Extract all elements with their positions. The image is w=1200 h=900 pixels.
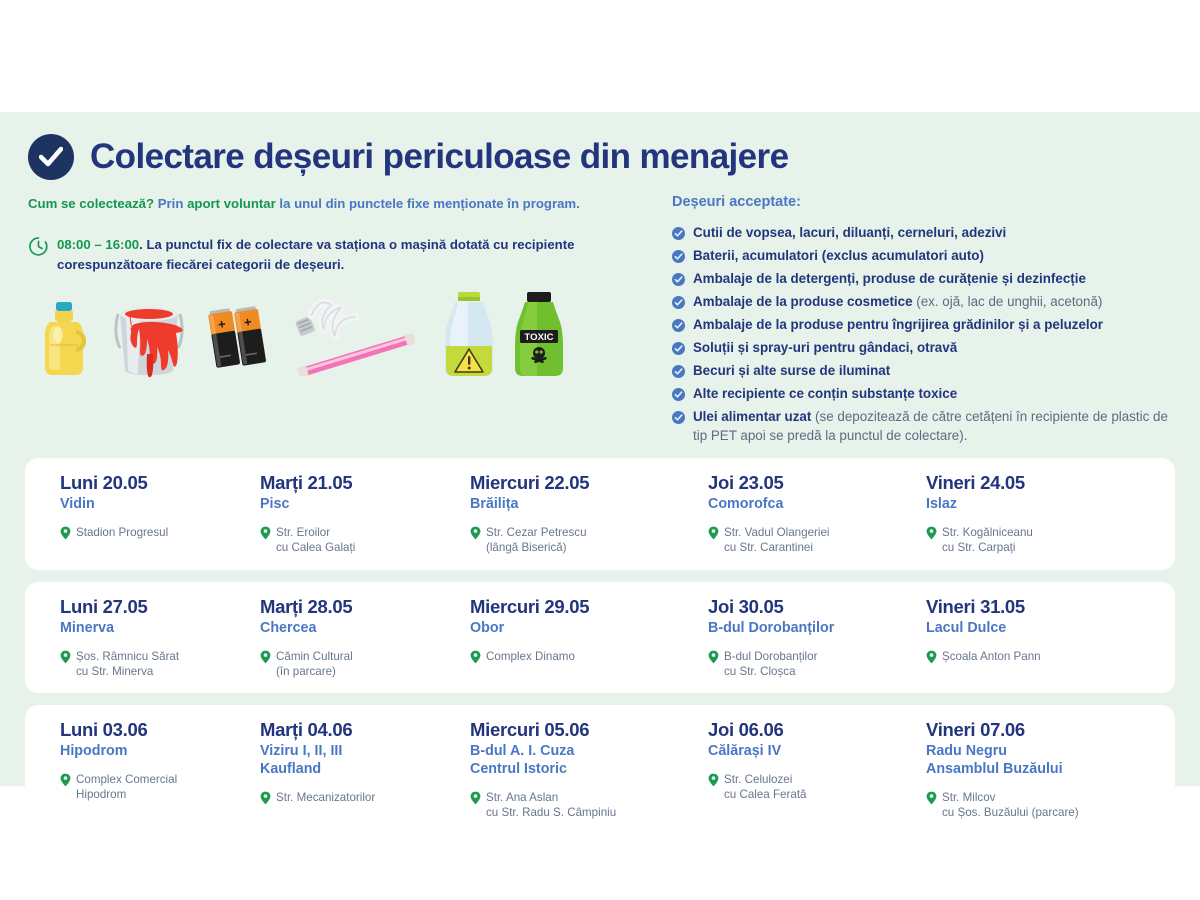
accepted-waste-item-text: Ambalaje de la produse pentru îngrijirea… bbox=[693, 315, 1103, 334]
schedule-zone: Minerva bbox=[60, 620, 245, 638]
schedule-entry[interactable]: Luni 20.05VidinStadion Progresul bbox=[25, 472, 255, 555]
check-circle-small-icon bbox=[672, 410, 685, 429]
accepted-waste-item-bold: Baterii, acumulatori (exclus acumulatori… bbox=[693, 248, 984, 263]
accepted-waste-item: Becuri și alte surse de iluminat bbox=[672, 361, 1172, 383]
lead-prin: Prin bbox=[158, 196, 184, 211]
map-pin-icon bbox=[60, 773, 71, 792]
schedule-address-row: Stadion Progresul bbox=[60, 525, 245, 545]
schedule-address: Str. Vadul Olangerieicu Str. Carantinei bbox=[724, 525, 829, 556]
opening-hours-value: 08:00 – 16:00 bbox=[57, 237, 139, 252]
accepted-waste-item-bold: Ambalaje de la produse pentru îngrijirea… bbox=[693, 317, 1103, 332]
accepted-waste-item-text: Soluții și spray-uri pentru gândaci, otr… bbox=[693, 338, 957, 357]
map-pin-icon bbox=[926, 650, 937, 669]
schedule-address-row: Complex ComercialHipodrom bbox=[60, 772, 245, 803]
schedule-day: Miercuri 29.05 bbox=[470, 596, 698, 618]
schedule-week-card: Luni 20.05VidinStadion ProgresulMarți 21… bbox=[25, 458, 1175, 569]
lead-tail: la unul din punctele fixe menționate în … bbox=[279, 196, 579, 211]
schedule-address: Complex ComercialHipodrom bbox=[76, 772, 177, 803]
accepted-waste-item: Alte recipiente ce conțin substanțe toxi… bbox=[672, 384, 1172, 406]
fluorescent-tube-icon bbox=[296, 334, 418, 381]
schedule-zone: Lacul Dulce bbox=[926, 620, 1151, 638]
schedule-zone: B-dul A. I. CuzaCentrul Istoric bbox=[470, 743, 698, 779]
schedule-entry[interactable]: Luni 03.06HipodromComplex ComercialHipod… bbox=[25, 719, 255, 820]
map-pin-icon bbox=[470, 650, 481, 669]
map-pin-icon bbox=[260, 791, 271, 810]
schedule-address-row: Str. Eroilorcu Calea Galați bbox=[260, 525, 460, 556]
accepted-waste-item: Ulei alimentar uzat (se depozitează de c… bbox=[672, 407, 1172, 445]
accepted-waste-item-note: (ex. ojă, lac de unghii, acetonă) bbox=[913, 294, 1103, 309]
warning-bottle-icon bbox=[440, 290, 498, 383]
schedule-week-card: Luni 03.06HipodromComplex ComercialHipod… bbox=[25, 705, 1175, 834]
paint-bucket-icon bbox=[106, 296, 192, 383]
schedule-zone: Islaz bbox=[926, 496, 1151, 514]
accepted-waste-item-bold: Cutii de vopsea, lacuri, diluanți, cerne… bbox=[693, 225, 1006, 240]
accepted-waste-item-bold: Soluții și spray-uri pentru gândaci, otr… bbox=[693, 340, 957, 355]
accepted-waste-item-bold: Ulei alimentar uzat bbox=[693, 409, 811, 424]
schedule-address-row: Școala Anton Pann bbox=[926, 649, 1151, 669]
schedule-address-row: Str. Ana Aslancu Str. Radu S. Câmpiniu bbox=[470, 790, 698, 821]
schedule-day: Marți 04.06 bbox=[260, 719, 460, 741]
schedule-address: Stadion Progresul bbox=[76, 525, 168, 540]
accepted-waste-item-bold: Alte recipiente ce conțin substanțe toxi… bbox=[693, 386, 957, 401]
lead-question: Cum se colectează? bbox=[28, 196, 154, 211]
schedule-day: Vineri 31.05 bbox=[926, 596, 1151, 618]
schedule-day: Luni 03.06 bbox=[60, 719, 245, 741]
map-pin-icon bbox=[260, 650, 271, 669]
accepted-waste-item-bold: Becuri și alte surse de iluminat bbox=[693, 363, 890, 378]
map-pin-icon bbox=[470, 526, 481, 545]
schedule-address-row: Șos. Râmnicu Săratcu Str. Minerva bbox=[60, 649, 245, 680]
map-pin-icon bbox=[708, 773, 719, 792]
schedule-address-row: Cămin Cultural(în parcare) bbox=[260, 649, 460, 680]
opening-hours-text: 08:00 – 16:00. La punctul fix de colecta… bbox=[57, 235, 628, 275]
clock-icon bbox=[28, 236, 49, 262]
accepted-waste-item-text: Alte recipiente ce conțin substanțe toxi… bbox=[693, 384, 957, 403]
schedule-zone: Pisc bbox=[260, 496, 460, 514]
batteries-icon: + + bbox=[208, 302, 270, 377]
schedule-address: Școala Anton Pann bbox=[942, 649, 1041, 664]
schedule-address: Șos. Râmnicu Săratcu Str. Minerva bbox=[76, 649, 179, 680]
accepted-waste-item-text: Cutii de vopsea, lacuri, diluanți, cerne… bbox=[693, 223, 1006, 242]
schedule-zone: Chercea bbox=[260, 620, 460, 638]
schedule-cards: Luni 20.05VidinStadion ProgresulMarți 21… bbox=[0, 446, 1200, 834]
opening-hours-line: 08:00 – 16:00. La punctul fix de colecta… bbox=[28, 235, 628, 275]
schedule-day: Marți 21.05 bbox=[260, 472, 460, 494]
accepted-waste-item-text: Becuri și alte surse de iluminat bbox=[693, 361, 890, 380]
poster-panel: Colectare deșeuri periculoase din menaje… bbox=[0, 112, 1200, 786]
schedule-address: Str. Celulozeicu Calea Ferată bbox=[724, 772, 807, 803]
check-circle-small-icon bbox=[672, 295, 685, 314]
schedule-address: Str. Ana Aslancu Str. Radu S. Câmpiniu bbox=[486, 790, 616, 821]
schedule-week-card: Luni 27.05MinervaȘos. Râmnicu Săratcu St… bbox=[25, 582, 1175, 693]
schedule-address: Str. Cezar Petrescu(lângă Biserică) bbox=[486, 525, 587, 556]
schedule-address-row: Complex Dinamo bbox=[470, 649, 698, 669]
lead-highlight: aport voluntar bbox=[187, 196, 276, 211]
schedule-day: Vineri 07.06 bbox=[926, 719, 1151, 741]
map-pin-icon bbox=[708, 650, 719, 669]
schedule-entry[interactable]: Vineri 07.06Radu NegruAnsamblul Buzăului… bbox=[926, 719, 1161, 820]
schedule-entry[interactable]: Miercuri 22.05BrăilițaStr. Cezar Petresc… bbox=[470, 472, 708, 555]
schedule-entry[interactable]: Marți 21.05PiscStr. Eroilorcu Calea Gala… bbox=[255, 472, 470, 555]
check-circle-small-icon bbox=[672, 364, 685, 383]
waste-illustrations: + + bbox=[28, 289, 628, 385]
accepted-waste-item: Ambalaje de la produse cosmetice (ex. oj… bbox=[672, 292, 1172, 314]
schedule-address: Str. Milcovcu Șos. Buzăului (parcare) bbox=[942, 790, 1079, 821]
schedule-address-row: Str. Milcovcu Șos. Buzăului (parcare) bbox=[926, 790, 1151, 821]
map-pin-icon bbox=[926, 791, 937, 810]
check-circle-small-icon bbox=[672, 318, 685, 337]
schedule-day: Joi 30.05 bbox=[708, 596, 916, 618]
schedule-entry[interactable]: Vineri 31.05Lacul DulceȘcoala Anton Pann bbox=[926, 596, 1161, 679]
oil-bottle-icon bbox=[36, 300, 92, 383]
schedule-address-row: Str. Cezar Petrescu(lângă Biserică) bbox=[470, 525, 698, 556]
schedule-day: Vineri 24.05 bbox=[926, 472, 1151, 494]
accepted-waste-item-bold: Ambalaje de la produse cosmetice bbox=[693, 294, 913, 309]
check-circle-small-icon bbox=[672, 341, 685, 360]
schedule-address-row: Str. Vadul Olangerieicu Str. Carantinei bbox=[708, 525, 916, 556]
schedule-zone: Comorofca bbox=[708, 496, 916, 514]
schedule-day: Miercuri 05.06 bbox=[470, 719, 698, 741]
intro-left-column: Cum se colectează? Prin aport voluntar l… bbox=[28, 194, 628, 446]
schedule-entry[interactable]: Miercuri 29.05OborComplex Dinamo bbox=[470, 596, 708, 679]
accepted-waste-item-text: Baterii, acumulatori (exclus acumulatori… bbox=[693, 246, 984, 265]
schedule-entry[interactable]: Vineri 24.05IslazStr. Kogălniceanucu Str… bbox=[926, 472, 1161, 555]
accepted-waste-item: Baterii, acumulatori (exclus acumulatori… bbox=[672, 246, 1172, 268]
accepted-waste-item-text: Ambalaje de la detergenți, produse de cu… bbox=[693, 269, 1086, 288]
schedule-address: Cămin Cultural(în parcare) bbox=[276, 649, 353, 680]
accepted-waste-list: Cutii de vopsea, lacuri, diluanți, cerne… bbox=[672, 223, 1172, 445]
check-circle-icon bbox=[28, 134, 74, 180]
schedule-entry[interactable]: Miercuri 05.06B-dul A. I. CuzaCentrul Is… bbox=[470, 719, 708, 820]
map-pin-icon bbox=[708, 526, 719, 545]
schedule-entry[interactable]: Luni 27.05MinervaȘos. Râmnicu Săratcu St… bbox=[25, 596, 255, 679]
accepted-waste-item: Ambalaje de la detergenți, produse de cu… bbox=[672, 269, 1172, 291]
accepted-waste-item-text: Ambalaje de la produse cosmetice (ex. oj… bbox=[693, 292, 1102, 311]
poster-header: Colectare deșeuri periculoase din menaje… bbox=[0, 112, 1200, 180]
schedule-address: Str. Eroilorcu Calea Galați bbox=[276, 525, 355, 556]
schedule-entry[interactable]: Marți 28.05CherceaCămin Cultural(în parc… bbox=[255, 596, 470, 679]
schedule-address-row: B-dul Dorobanțilorcu Str. Cloșca bbox=[708, 649, 916, 680]
schedule-zone: Hipodrom bbox=[60, 743, 245, 761]
accepted-waste-item: Soluții și spray-uri pentru gândaci, otr… bbox=[672, 338, 1172, 360]
accepted-waste-item: Cutii de vopsea, lacuri, diluanți, cerne… bbox=[672, 223, 1172, 245]
accepted-waste-column: Deșeuri acceptate: Cutii de vopsea, lacu… bbox=[652, 194, 1172, 446]
schedule-address: Str. Mecanizatorilor bbox=[276, 790, 375, 805]
check-circle-small-icon bbox=[672, 226, 685, 245]
schedule-address: B-dul Dorobanțilorcu Str. Cloșca bbox=[724, 649, 817, 680]
check-circle-small-icon bbox=[672, 272, 685, 291]
toxic-label: TOXIC bbox=[524, 332, 553, 343]
schedule-entry[interactable]: Marți 04.06Viziru I, II, IIIKauflandStr.… bbox=[255, 719, 470, 820]
toxic-bottle-icon: TOXIC bbox=[510, 290, 568, 383]
map-pin-icon bbox=[60, 650, 71, 669]
schedule-address-row: Str. Celulozeicu Calea Ferată bbox=[708, 772, 916, 803]
check-circle-small-icon bbox=[672, 387, 685, 406]
schedule-day: Luni 20.05 bbox=[60, 472, 245, 494]
schedule-zone: Brăilița bbox=[470, 496, 698, 514]
check-circle-small-icon bbox=[672, 249, 685, 268]
schedule-day: Miercuri 22.05 bbox=[470, 472, 698, 494]
accepted-waste-item: Ambalaje de la produse pentru îngrijirea… bbox=[672, 315, 1172, 337]
map-pin-icon bbox=[260, 526, 271, 545]
schedule-entry[interactable]: Joi 30.05B-dul DorobanțilorB-dul Doroban… bbox=[708, 596, 926, 679]
schedule-entry[interactable]: Joi 06.06Călărași IVStr. Celulozeicu Cal… bbox=[708, 719, 926, 820]
collection-lead: Cum se colectează? Prin aport voluntar l… bbox=[28, 194, 628, 213]
schedule-day: Joi 06.06 bbox=[708, 719, 916, 741]
schedule-zone: Obor bbox=[470, 620, 698, 638]
intro-columns: Cum se colectează? Prin aport voluntar l… bbox=[0, 180, 1200, 446]
schedule-zone: Radu NegruAnsamblul Buzăului bbox=[926, 743, 1151, 779]
schedule-day: Joi 23.05 bbox=[708, 472, 916, 494]
schedule-address: Complex Dinamo bbox=[486, 649, 575, 664]
schedule-day: Luni 27.05 bbox=[60, 596, 245, 618]
accepted-waste-item-bold: Ambalaje de la detergenți, produse de cu… bbox=[693, 271, 1086, 286]
map-pin-icon bbox=[926, 526, 937, 545]
schedule-zone: Viziru I, II, IIIKaufland bbox=[260, 743, 460, 779]
page-title: Colectare deșeuri periculoase din menaje… bbox=[90, 137, 788, 177]
accepted-waste-item-text: Ulei alimentar uzat (se depozitează de c… bbox=[693, 407, 1172, 445]
schedule-address-row: Str. Mecanizatorilor bbox=[260, 790, 460, 810]
schedule-day: Marți 28.05 bbox=[260, 596, 460, 618]
map-pin-icon bbox=[60, 526, 71, 545]
schedule-address-row: Str. Kogălniceanucu Str. Carpați bbox=[926, 525, 1151, 556]
schedule-zone: Călărași IV bbox=[708, 743, 916, 761]
schedule-zone: Vidin bbox=[60, 496, 245, 514]
map-pin-icon bbox=[470, 791, 481, 810]
accepted-waste-title: Deșeuri acceptate: bbox=[672, 194, 1172, 210]
schedule-address: Str. Kogălniceanucu Str. Carpați bbox=[942, 525, 1033, 556]
schedule-entry[interactable]: Joi 23.05ComorofcaStr. Vadul Olangerieic… bbox=[708, 472, 926, 555]
schedule-zone: B-dul Dorobanților bbox=[708, 620, 916, 638]
